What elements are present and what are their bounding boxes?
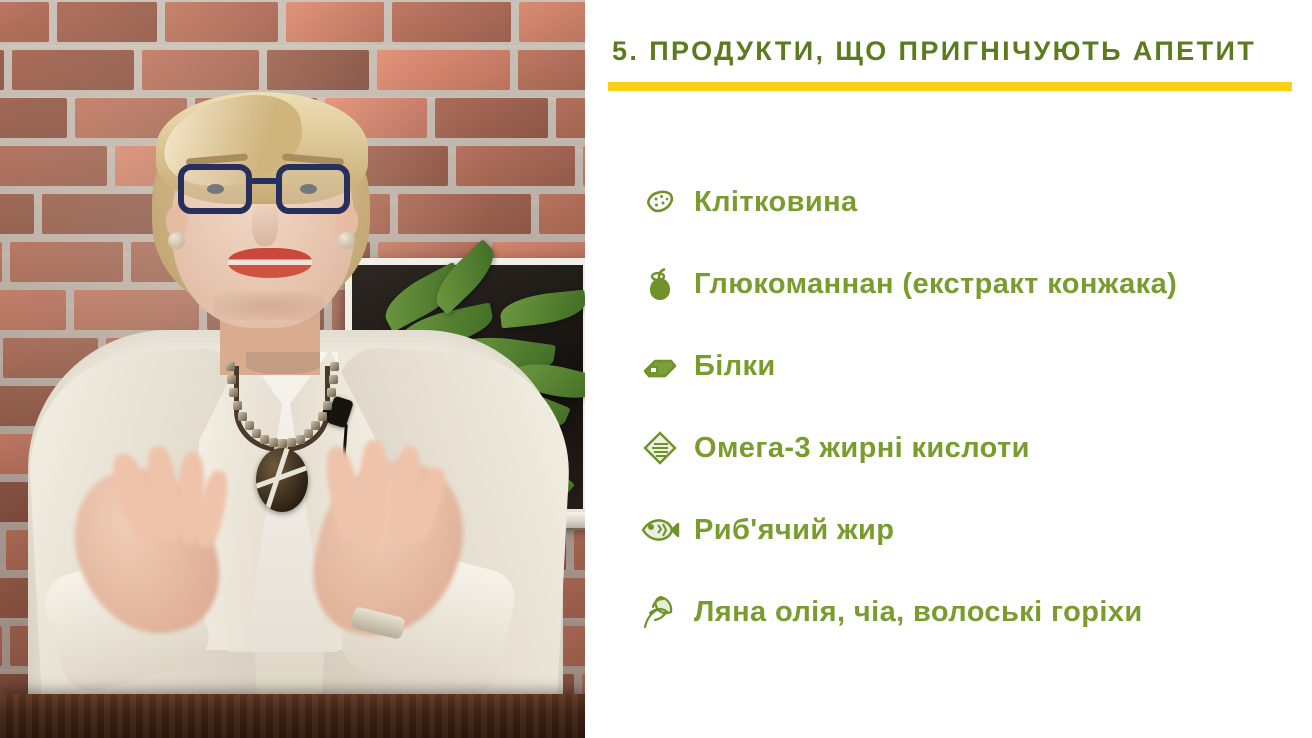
earring-right	[338, 232, 355, 249]
necklace-bead	[229, 388, 238, 397]
necklace-bead	[311, 421, 320, 430]
eyeglass-lens-right	[276, 164, 350, 214]
avocado-icon	[640, 264, 680, 304]
potato-icon	[640, 182, 680, 222]
list-item: Глюкоманнан (екстракт конжака)	[640, 254, 1312, 314]
gem-icon	[640, 428, 680, 468]
list-item: Омега-3 жирні кислоти	[640, 418, 1312, 478]
finger	[360, 440, 388, 542]
necklace-bead	[226, 362, 235, 371]
necklace-bead	[227, 375, 236, 384]
presenter	[0, 0, 585, 738]
necklace-bead	[330, 362, 339, 371]
mouth	[228, 248, 312, 278]
bullet-list: КлітковинаГлюкоманнан (екстракт конжака)…	[640, 172, 1312, 664]
list-item-label: Омега-3 жирні кислоти	[694, 432, 1030, 465]
title-underline-bar	[608, 82, 1292, 91]
list-item: Ляна олія, чіа, волоські горіхи	[640, 582, 1312, 642]
necklace-bead	[329, 375, 338, 384]
list-item-label: Риб'ячий жир	[694, 514, 894, 547]
desk-wood-grain	[0, 694, 585, 738]
necklace-bead	[278, 439, 287, 448]
desk-surface	[0, 694, 585, 738]
earring-left	[168, 232, 185, 249]
necklace-bead	[327, 388, 336, 397]
list-item: Клітковина	[640, 172, 1312, 232]
meat-icon	[640, 346, 680, 386]
eyeglass-lens-left	[178, 164, 252, 214]
slide-title-wrap: 5. ПРОДУКТИ, ЩО ПРИГНІЧУЮТЬ АПЕТИТ	[612, 36, 1256, 67]
list-item: Білки	[640, 336, 1312, 396]
list-item: Риб'ячий жир	[640, 500, 1312, 560]
presenter-video-pane	[0, 0, 585, 738]
necklace-bead	[318, 412, 327, 421]
list-item-label: Білки	[694, 350, 776, 383]
slide-stage: 5. ПРОДУКТИ, ЩО ПРИГНІЧУЮТЬ АПЕТИТ Клітк…	[0, 0, 1312, 738]
list-item-label: Ляна олія, чіа, волоські горіхи	[694, 596, 1143, 629]
herb-leaf-icon	[640, 592, 680, 632]
list-item-label: Глюкоманнан (екстракт конжака)	[694, 268, 1177, 301]
chin-shadow	[214, 292, 324, 320]
slide-content-pane: 5. ПРОДУКТИ, ЩО ПРИГНІЧУЮТЬ АПЕТИТ Клітк…	[585, 0, 1312, 738]
necklace-bead	[269, 438, 278, 447]
fish-icon	[640, 510, 680, 550]
necklace-bead	[323, 401, 332, 410]
nose	[252, 200, 278, 246]
necklace-bead	[287, 438, 296, 447]
necklace-bead	[260, 435, 269, 444]
necklace-bead	[304, 429, 313, 438]
page-title: 5. ПРОДУКТИ, ЩО ПРИГНІЧУЮТЬ АПЕТИТ	[612, 36, 1256, 67]
necklace-bead	[233, 401, 242, 410]
necklace-pendant	[256, 448, 308, 512]
list-item-label: Клітковина	[694, 186, 858, 219]
necklace-bead	[238, 412, 247, 421]
eyeglass-bridge	[250, 178, 278, 184]
